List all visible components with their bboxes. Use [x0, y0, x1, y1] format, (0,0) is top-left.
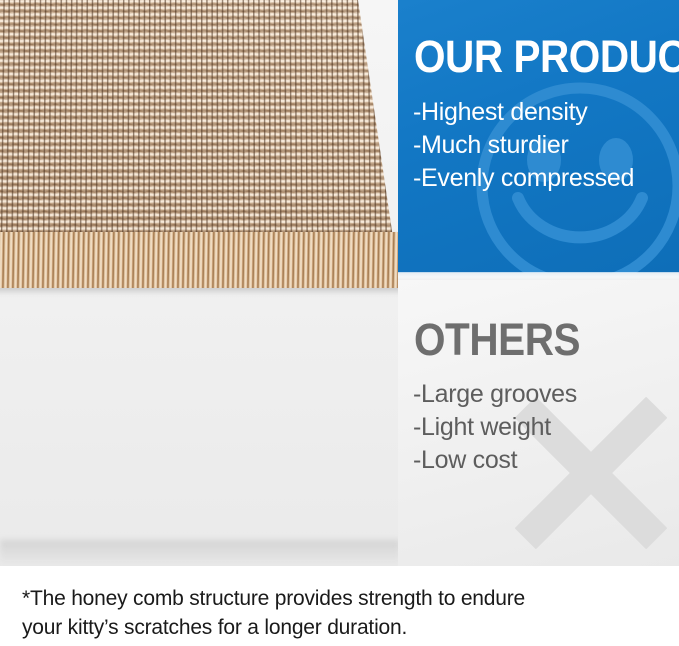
footnote-line-1: *The honey comb structure provides stren… — [22, 584, 667, 613]
our-product-panel: OUR PRODUCT -Highest density -Much sturd… — [398, 0, 679, 273]
others-bullet-list: -Large grooves -Light weight -Low cost — [413, 378, 577, 477]
panel-divider — [398, 273, 679, 280]
our-product-bullet-3: -Evenly compressed — [413, 162, 634, 195]
page-title-others: OTHERS — [414, 317, 580, 362]
footnote-area: *The honey comb structure provides stren… — [0, 566, 679, 646]
gray-competitor-mat — [0, 278, 420, 510]
footnote-text: *The honey comb structure provides stren… — [22, 584, 667, 642]
our-product-bullet-list: -Highest density -Much sturdier -Evenly … — [413, 96, 634, 195]
others-panel: OTHERS -Large grooves -Light weight -Low… — [398, 280, 679, 566]
others-bullet-1: -Large grooves — [413, 378, 577, 411]
infographic-page: OUR PRODUCT -Highest density -Much sturd… — [0, 0, 679, 646]
our-product-bullet-2: -Much sturdier — [413, 129, 634, 162]
tan-honeycomb-texture — [0, 0, 412, 245]
others-bullet-2: -Light weight — [413, 411, 577, 444]
mat-drop-shadow — [0, 540, 400, 566]
our-product-bullet-1: -Highest density — [413, 96, 634, 129]
page-title-our-product: OUR PRODUCT — [414, 34, 679, 79]
others-bullet-3: -Low cost — [413, 444, 577, 477]
footnote-line-2: your kitty’s scratches for a longer dura… — [22, 613, 667, 642]
